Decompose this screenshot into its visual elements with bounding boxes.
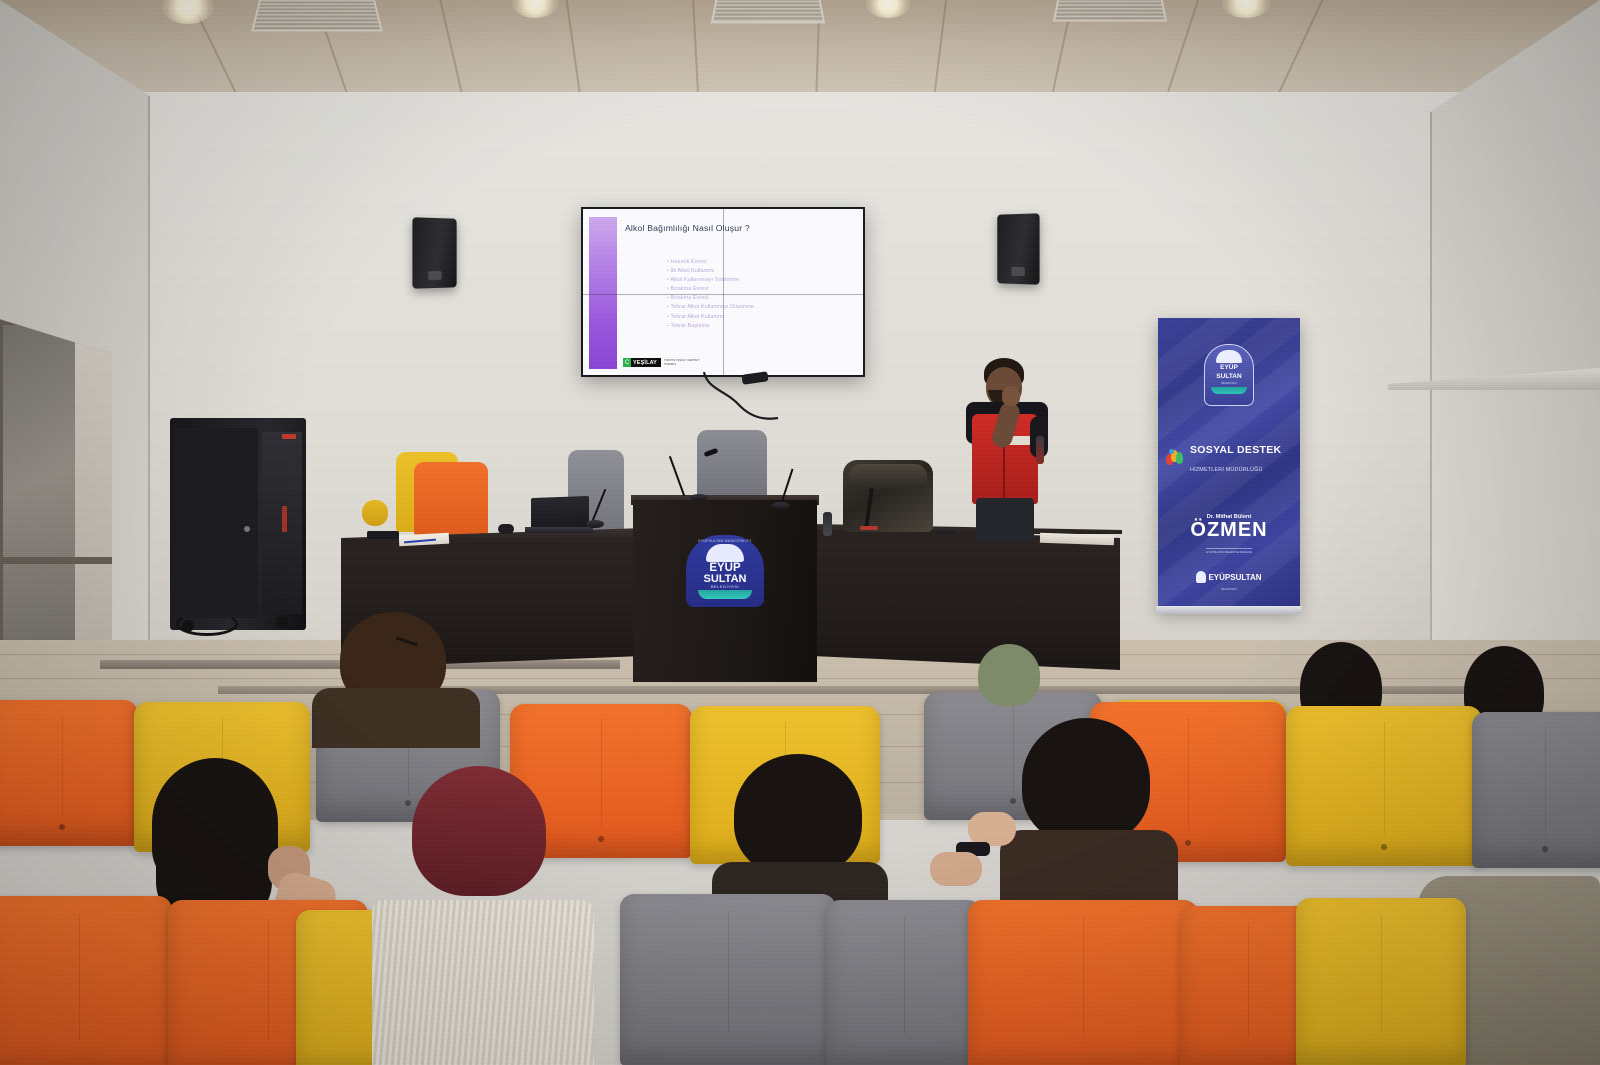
audience-seat[interactable] [1286,706,1482,866]
stage-chair-yellow-arm [362,500,388,526]
video-wall-seam-vertical [723,209,724,375]
audience-seat[interactable] [620,894,836,1065]
banner-footer-text: EYÜPSULTAN [1208,573,1261,582]
yesilay-subtitle: TÜRKİYE YEŞİLAY CEMİYETİ İSTANBUL [664,359,699,365]
rollup-banner: EYÜP SULTAN BELEDİYESİ SOSYAL DESTEK HİZ… [1158,318,1300,610]
ceiling-vent [1053,0,1167,21]
podium-logo-line2: SULTAN [704,574,747,584]
presenter-hand [1002,386,1020,406]
computer-mouse[interactable] [498,524,514,534]
ceiling-vent [251,0,383,31]
remote-control[interactable] [367,531,399,539]
audience-seat[interactable] [968,900,1198,1065]
stage-chair-orange [414,462,488,536]
rack-caster [276,616,288,628]
yesilay-logomark: C YEŞİLAY [623,358,661,367]
bottle[interactable] [823,512,832,536]
rack-label [282,434,296,439]
podium-logo-arc: EYÜPSULTAN MUNICIPALITY [698,539,751,543]
audience-seat[interactable] [0,700,138,846]
banner-person-role: EYÜPSULTAN BELEDİYE BAŞKANI [1206,548,1252,554]
yesilay-subtitle-line2: İSTANBUL [664,363,677,366]
wall-corner-right [1430,112,1432,712]
backpack-flap [849,464,927,488]
video-wall-seam-horizontal [583,294,863,295]
podium-logo-line3: BELEDİYESİ [711,584,739,589]
slide-bullet-list: Hazırlık Evresi İlk Alkol Kullanımı Alko… [627,259,863,332]
banner-crest-line1: EYÜP [1220,365,1238,372]
slide-bullet: Tekrar Alkol Kullanmayı Düşünme [667,304,863,310]
audience-head [734,754,862,876]
audience-seat[interactable] [0,896,172,1065]
laptop-screen[interactable] [531,496,589,529]
marker[interactable] [860,526,878,530]
wall-speaker-right [997,213,1039,284]
yesilay-logo: C YEŞİLAY TÜRKİYE YEŞİLAY CEMİYETİ İSTAN… [623,358,699,367]
floor-cable [176,612,238,636]
microphone-base [586,520,604,528]
audience-head-scarf [412,766,546,896]
people-group-icon [1166,449,1186,467]
rack-handle[interactable] [244,526,250,532]
yesilay-crescent-icon: C [623,358,631,367]
banner-footer-mark: EYÜPSULTAN BELEDİYESİ [1158,570,1300,591]
microphone-base [690,494,708,501]
wave-icon [1211,387,1247,394]
banner-department-sub: HİZMETLERİ MÜDÜRLÜĞÜ [1190,467,1263,473]
audience-head-scarf [978,644,1040,706]
slide-bullet: Alkol Kullanımayı Sürdürme [667,277,863,283]
audience-seat[interactable] [1472,712,1600,868]
desk-right [812,528,1120,670]
slide-bullet: Bırakma Evresi [667,286,863,292]
banner-person-name: ÖZMEN [1158,520,1300,540]
slide-bullet: Tekrar Alkol Kullanımı [667,314,863,320]
ceiling-vent [711,0,826,23]
laptop-base[interactable] [525,527,593,533]
audience-body [1000,830,1178,900]
rack-door[interactable] [174,428,258,618]
draped-textile [372,900,594,1065]
wave-icon [698,590,752,599]
video-wall[interactable]: Alkol Bağımlılığı Nasıl Oluşur ? Hazırlı… [581,207,865,377]
banner-department: SOSYAL DESTEK HİZMETLERİ MÜDÜRLÜĞÜ [1166,440,1294,476]
slide-title: Alkol Bağımlılığı Nasıl Oluşur ? [625,223,750,233]
audience-hand [930,852,982,886]
banner-crest: EYÜP SULTAN BELEDİYESİ [1204,344,1254,406]
audience-head [1022,718,1150,844]
mosque-dome-icon [1216,350,1242,363]
microphone-base [772,502,790,509]
audience-seat[interactable] [1296,898,1466,1065]
slide-bullet: Bırakma Evresi [667,295,863,301]
handheld-microphone[interactable] [1036,436,1044,464]
presenter [952,358,1062,538]
banner-person: Dr. Mithat Bülent ÖZMEN EYÜPSULTAN BELED… [1158,514,1300,558]
slide-bullet: Hazırlık Evresi [667,259,863,265]
audience-body [312,688,480,748]
audience-hand [968,812,1016,846]
banner-footer-sub: BELEDİYESİ [1158,588,1300,591]
podium: EYÜPSULTAN MUNICIPALITY EYÜP SULTAN BELE… [633,500,817,682]
banner-base [1156,606,1302,614]
slide-bullet: Tekrar Başlama [667,323,863,329]
mosque-dome-icon [706,544,744,562]
slide-accent-bar [589,217,617,369]
dome-mark-icon [1196,571,1206,583]
podium-logo: EYÜPSULTAN MUNICIPALITY EYÜP SULTAN BELE… [686,535,764,607]
banner-crest-line2: SULTAN [1216,374,1241,381]
banner-department-title: SOSYAL DESTEK [1190,444,1281,456]
equipment-rack [170,418,306,630]
rack-strap [282,506,287,532]
photo-scene: Alkol Bağımlılığı Nasıl Oluşur ? Hazırlı… [0,0,1600,1065]
audience-seat[interactable] [826,900,982,1065]
wall-speaker-left [412,217,456,289]
banner-crest-sub: BELEDİYESİ [1221,382,1236,385]
slide-bullet: İlk Alkol Kullanımı [667,268,863,274]
yesilay-name: YEŞİLAY [631,360,659,366]
backpack[interactable] [843,460,933,532]
wall-corner-left [148,96,150,696]
backpack-strap [864,488,874,528]
presentation-slide: Alkol Bağımlılığı Nasıl Oluşur ? Hazırlı… [583,209,863,375]
